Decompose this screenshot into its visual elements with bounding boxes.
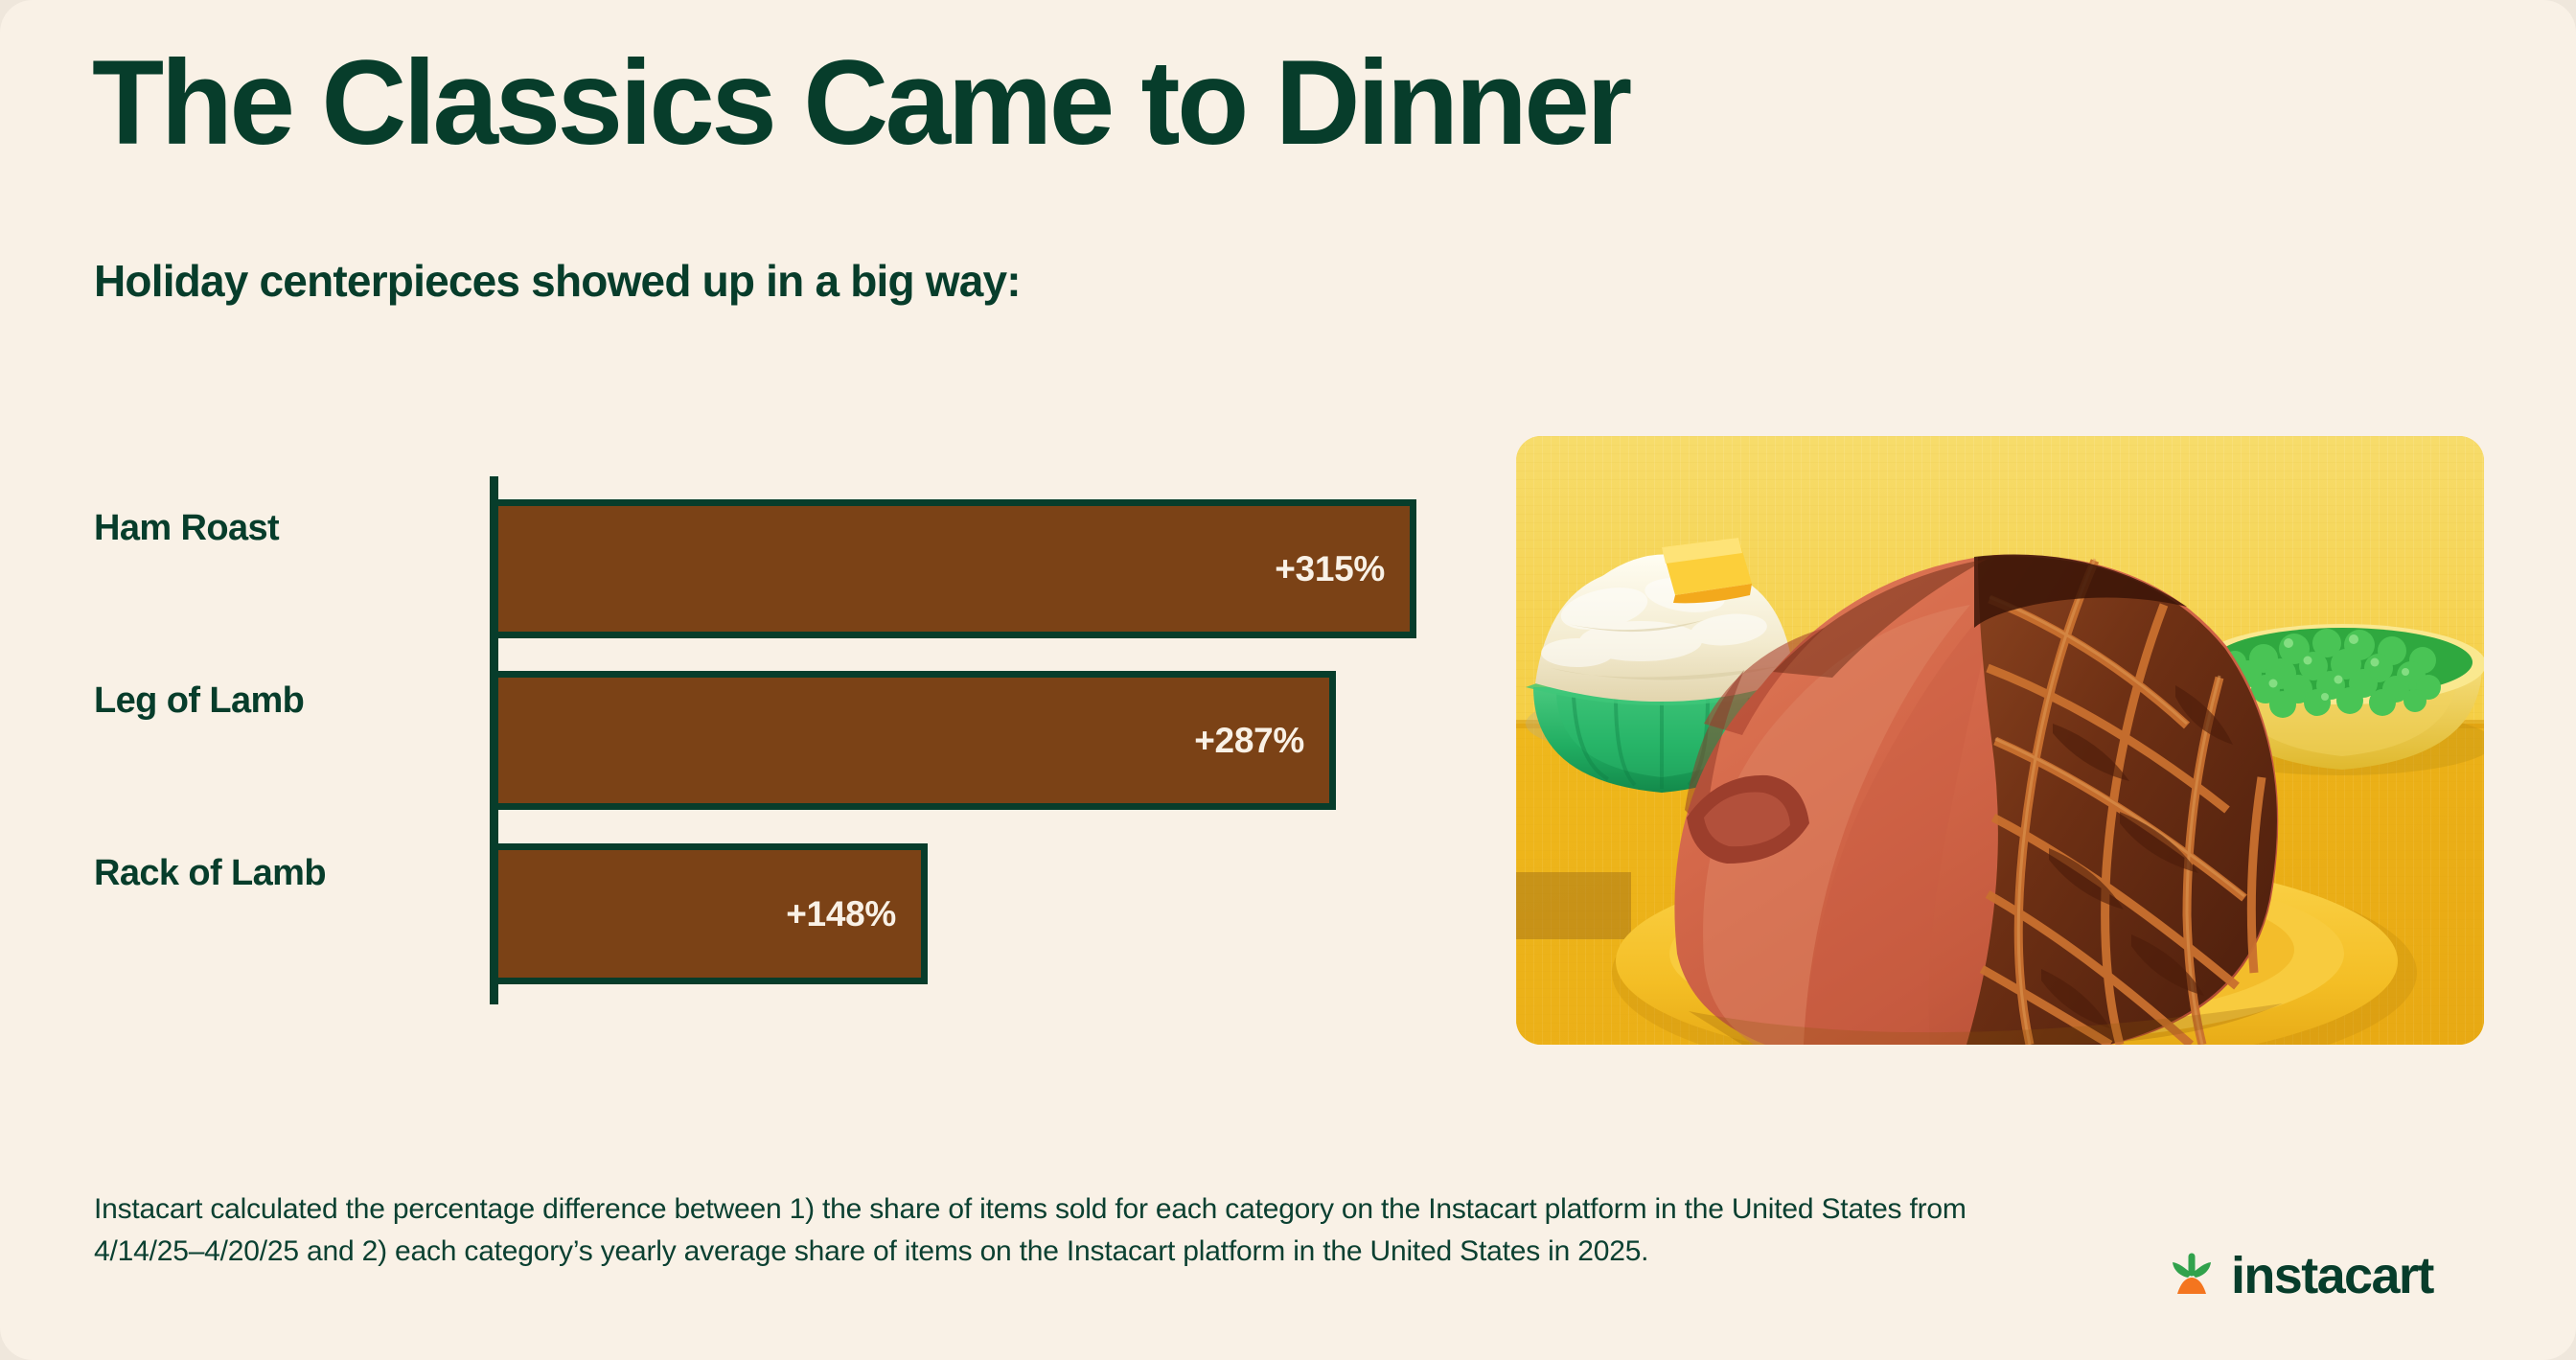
hero-photo-ham-dinner — [1516, 436, 2484, 1045]
bar-value-ham-roast: +315% — [1275, 549, 1385, 589]
bar-value-leg-of-lamb: +287% — [1194, 721, 1304, 761]
bar-label-ham-roast: Ham Roast — [94, 508, 279, 549]
bar-leg-of-lamb: +287% — [492, 671, 1336, 810]
instacart-logo[interactable]: instacart — [2164, 1246, 2433, 1305]
bar-ham-roast: +315% — [492, 499, 1416, 638]
carrot-icon-svg — [2164, 1248, 2219, 1303]
bar-label-rack-of-lamb: Rack of Lamb — [94, 853, 326, 894]
bar-rack-of-lamb: +148% — [492, 843, 928, 984]
ham-dinner-illustration — [1516, 436, 2484, 1045]
infographic-card: The Classics Came to Dinner Holiday cent… — [0, 0, 2576, 1360]
bar-value-rack-of-lamb: +148% — [786, 894, 896, 934]
instacart-wordmark: instacart — [2231, 1250, 2433, 1302]
bar-label-leg-of-lamb: Leg of Lamb — [94, 680, 304, 722]
bar-chart: Ham Roast +315% Leg of Lamb +287% Rack o… — [0, 0, 1495, 1360]
methodology-footnote: Instacart calculated the percentage diff… — [94, 1188, 1972, 1272]
carrot-icon — [2164, 1248, 2219, 1303]
